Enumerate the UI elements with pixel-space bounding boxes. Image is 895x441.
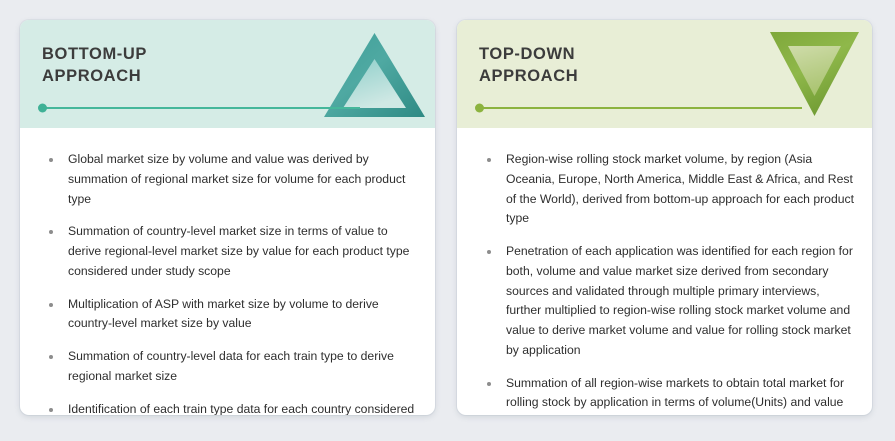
bottom-up-approach-card: BOTTOM-UP APPROACH Global market size by… [20,20,435,415]
bottom-up-bullet-list: Global market size by volume and value w… [20,128,435,415]
top-down-bullet-list: Region-wise rolling stock market volume,… [457,128,872,415]
list-item: Summation of country-level market size i… [47,222,415,281]
list-item: Global market size by volume and value w… [47,150,415,209]
top-down-approach-card: TOP-DOWN APPROACH Region-wise rolling st… [457,20,872,415]
bottom-up-header-rule [42,107,360,109]
list-item: Region-wise rolling stock market volume,… [485,150,856,229]
list-item: Multiplication of ASP with market size b… [47,295,415,335]
list-item: Identification of each train type data f… [47,400,415,415]
list-item: Summation of country-level data for each… [47,347,415,387]
top-down-header-rule [479,107,802,109]
bottom-up-card-header: BOTTOM-UP APPROACH [20,20,435,128]
bottom-up-rule-dot [38,104,47,113]
list-item: Summation of all region-wise markets to … [485,374,856,415]
bottom-up-card-title: BOTTOM-UP APPROACH [42,43,435,87]
top-down-card-title: TOP-DOWN APPROACH [479,43,872,87]
list-item: Penetration of each application was iden… [485,242,856,361]
top-down-card-header: TOP-DOWN APPROACH [457,20,872,128]
approach-comparison-page: BOTTOM-UP APPROACH Global market size by… [0,0,895,441]
top-down-rule-dot [475,104,484,113]
